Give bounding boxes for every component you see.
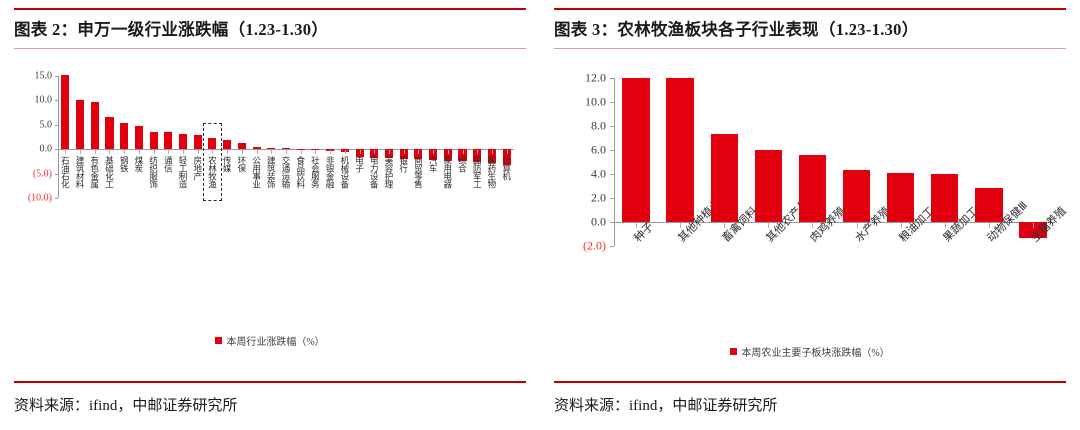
x-tick-mark [198,150,199,154]
bar [61,75,69,150]
x-tick-mark [257,150,258,154]
figure-2-plot-area: 15.010.05.00.0(5.0)(10.0)石油石化建筑材料有色金属基础化… [22,66,522,366]
category-label: 传媒 [223,156,232,172]
x-tick-mark [168,150,169,154]
bar [622,78,649,222]
category-label: 社会服务 [311,156,320,188]
figure-2-chart: 15.010.05.00.0(5.0)(10.0)石油石化建筑材料有色金属基础化… [22,66,522,366]
bar [164,132,172,150]
category-label: 医药生物 [487,156,496,188]
bar [267,148,275,149]
x-tick-mark [345,150,346,154]
category-label: 环保 [237,156,246,172]
category-label: 有色金属 [90,156,99,188]
figure-3-legend: 本周农业主要子板块涨跌幅（%） [540,344,1080,359]
category-label: 商贸零售 [414,156,423,188]
figure-2-source: 资料来源：ifind，中邮证券研究所 [14,394,237,415]
bar [150,132,158,150]
y-tick-mark [610,102,614,103]
bar [666,78,693,222]
legend-swatch [215,337,222,344]
y-axis-line [58,76,59,198]
x-tick-mark [124,150,125,154]
bar [91,102,99,149]
figure-3-title: 图表 3：农林牧渔板块各子行业表现（1.23-1.30） [554,16,919,40]
y-tick-mark [610,174,614,175]
bar [179,134,187,150]
y-axis-tick-label: 10.0 [22,95,52,106]
bar [843,170,870,222]
bar [105,117,113,149]
bar [931,174,958,222]
x-tick-mark [418,150,419,154]
y-tick-mark [55,198,58,199]
footer-rule [14,381,526,383]
x-tick-mark [404,150,405,154]
x-tick-mark [109,150,110,154]
figure-2-panel: 图表 2：申万一级行业涨跌幅（1.23-1.30） 15.010.05.00.0… [0,0,540,430]
category-label: 交通运输 [282,156,291,188]
x-tick-mark [154,150,155,154]
legend-swatch [730,348,737,355]
y-tick-mark [55,76,58,77]
y-tick-mark [610,198,614,199]
y-axis-tick-label: 12.0 [570,71,606,86]
y-axis-tick-label: 4.0 [570,167,606,182]
bar [253,147,261,149]
x-tick-mark [389,150,390,154]
category-label: 机械设备 [340,156,349,188]
header-rule-bottom [554,48,1066,49]
bar [799,155,826,222]
y-tick-mark [610,126,614,127]
x-tick-mark [271,150,272,154]
category-label: 电力设备 [370,156,379,188]
category-label: 食品饮料 [296,156,305,188]
category-label: 煤炭 [134,156,143,172]
y-tick-mark [610,78,614,79]
x-tick-mark [242,150,243,154]
report-page: 图表 2：申万一级行业涨跌幅（1.23-1.30） 15.010.05.00.0… [0,0,1080,430]
y-axis-tick-label: (5.0) [22,168,52,179]
bar [711,134,738,222]
y-axis-tick-label: 8.0 [570,119,606,134]
category-label: 计算机 [502,156,511,180]
figure-3-panel: 图表 3：农林牧渔板块各子行业表现（1.23-1.30） 12.010.08.0… [540,0,1080,430]
x-tick-mark [360,150,361,154]
y-axis-tick-label: 2.0 [570,191,606,206]
category-label: 石油石化 [61,156,70,188]
category-label: 银行 [399,156,408,172]
y-axis-tick-label: 10.0 [570,95,606,110]
x-tick-mark [463,150,464,154]
x-tick-mark [433,150,434,154]
x-tick-mark [374,150,375,154]
category-label: 纺织服饰 [149,156,158,188]
category-label: 建筑装饰 [267,156,276,188]
footer-rule [554,381,1066,383]
x-tick-mark [477,150,478,154]
x-tick-mark [315,150,316,154]
y-tick-mark [610,246,614,247]
figure-3-chart: 12.010.08.06.04.02.00.0(2.0)种子其他种植业畜禽饲料其… [570,66,1065,366]
y-axis-tick-label: 6.0 [570,143,606,158]
bar [887,173,914,222]
x-tick-mark [301,150,302,154]
figure-2-legend: 本周行业涨跌幅（%） [0,333,540,348]
highlight-box [203,123,221,201]
figure-2-title: 图表 2：申万一级行业涨跌幅（1.23-1.30） [14,16,328,40]
category-label: 综合 [458,156,467,172]
bar [76,100,84,149]
x-tick-mark [139,150,140,154]
category-label: 公用事业 [252,156,261,188]
category-label: 汽车 [429,156,438,172]
y-axis-line [614,78,615,246]
header-rule-top [14,8,526,10]
category-label: 美容护理 [384,156,393,188]
y-axis-tick-label: 0.0 [22,144,52,155]
category-label: 电子 [355,156,364,172]
x-tick-mark [227,150,228,154]
x-tick-mark [492,150,493,154]
y-tick-mark [55,100,58,101]
x-tick-mark [330,150,331,154]
y-axis-tick-label: (2.0) [570,239,606,254]
bar [120,123,128,149]
y-tick-mark [55,174,58,175]
bar [755,150,782,222]
y-axis-tick-label: 0.0 [570,215,606,230]
figure-3-source: 资料来源：ifind，中邮证券研究所 [554,394,777,415]
x-tick-mark [95,150,96,154]
bar [282,148,290,149]
x-tick-mark [80,150,81,154]
category-label: 家用电器 [443,156,452,188]
y-axis-tick-label: 15.0 [22,71,52,82]
category-label: 基础化工 [105,156,114,188]
bar [194,135,202,149]
category-label: 房地产 [193,156,202,180]
x-tick-mark [448,150,449,154]
x-tick-mark [507,150,508,154]
category-label: 国防军工 [473,156,482,188]
y-tick-mark [55,125,58,126]
y-tick-mark [610,150,614,151]
header-rule-top [554,8,1066,10]
legend-label: 本周农业主要子板块涨跌幅（%） [741,348,889,359]
x-tick-mark [65,150,66,154]
category-label: 通信 [164,156,173,172]
figure-3-plot-area: 12.010.08.06.04.02.00.0(2.0)种子其他种植业畜禽饲料其… [570,66,1065,366]
header-rule-bottom [14,48,526,49]
y-axis-tick-label: 5.0 [22,119,52,130]
y-axis-tick-label: (10.0) [22,193,52,204]
category-label: 钢铁 [120,156,129,172]
legend-label: 本周行业涨跌幅（%） [226,337,324,348]
category-label: 轻工制造 [179,156,188,188]
bar [135,126,143,149]
x-tick-mark [183,150,184,154]
category-label: 建筑材料 [76,156,85,188]
bar [238,143,246,149]
bar [223,140,231,149]
x-tick-mark [286,150,287,154]
category-label: 非银金融 [326,156,335,188]
